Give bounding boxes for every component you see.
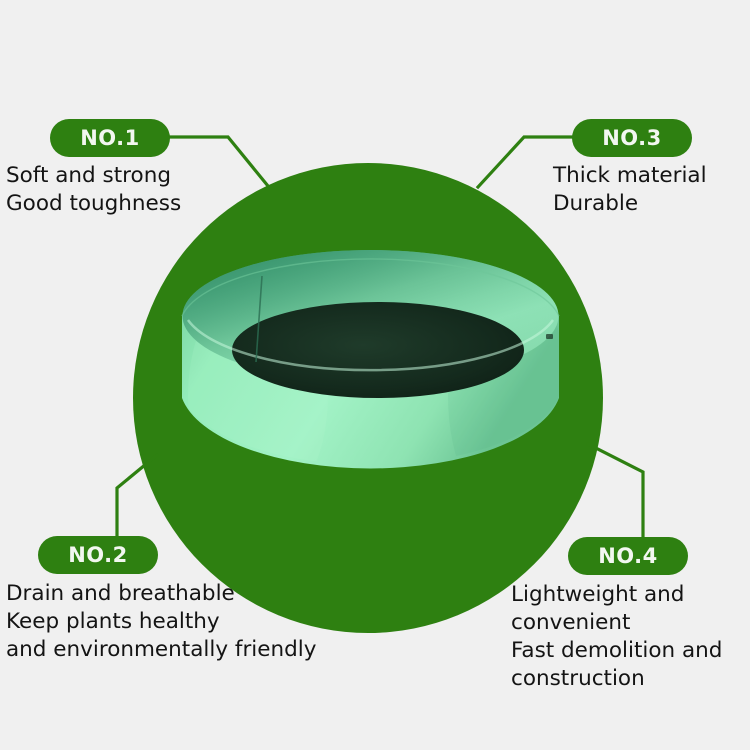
connector-line-no-4	[588, 444, 643, 537]
product-image-grow-bag	[178, 246, 563, 526]
feature-text-no-2: Drain and breathable Keep plants healthy…	[6, 580, 316, 664]
connector-line-no-1	[170, 137, 268, 186]
feature-text-no-1: Soft and strong Good toughness	[6, 162, 181, 218]
badge-no-3[interactable]: NO.3	[572, 119, 692, 157]
feature-text-no-4: Lightweight and convenient Fast demoliti…	[511, 581, 722, 693]
infographic-canvas: NO.1 NO.3 NO.2 NO.4 Soft and strong Good…	[0, 0, 750, 750]
badge-no-1[interactable]: NO.1	[50, 119, 170, 157]
feature-text-no-3: Thick material Durable	[553, 162, 707, 218]
badge-no-4[interactable]: NO.4	[568, 537, 688, 575]
badge-no-2[interactable]: NO.2	[38, 536, 158, 574]
